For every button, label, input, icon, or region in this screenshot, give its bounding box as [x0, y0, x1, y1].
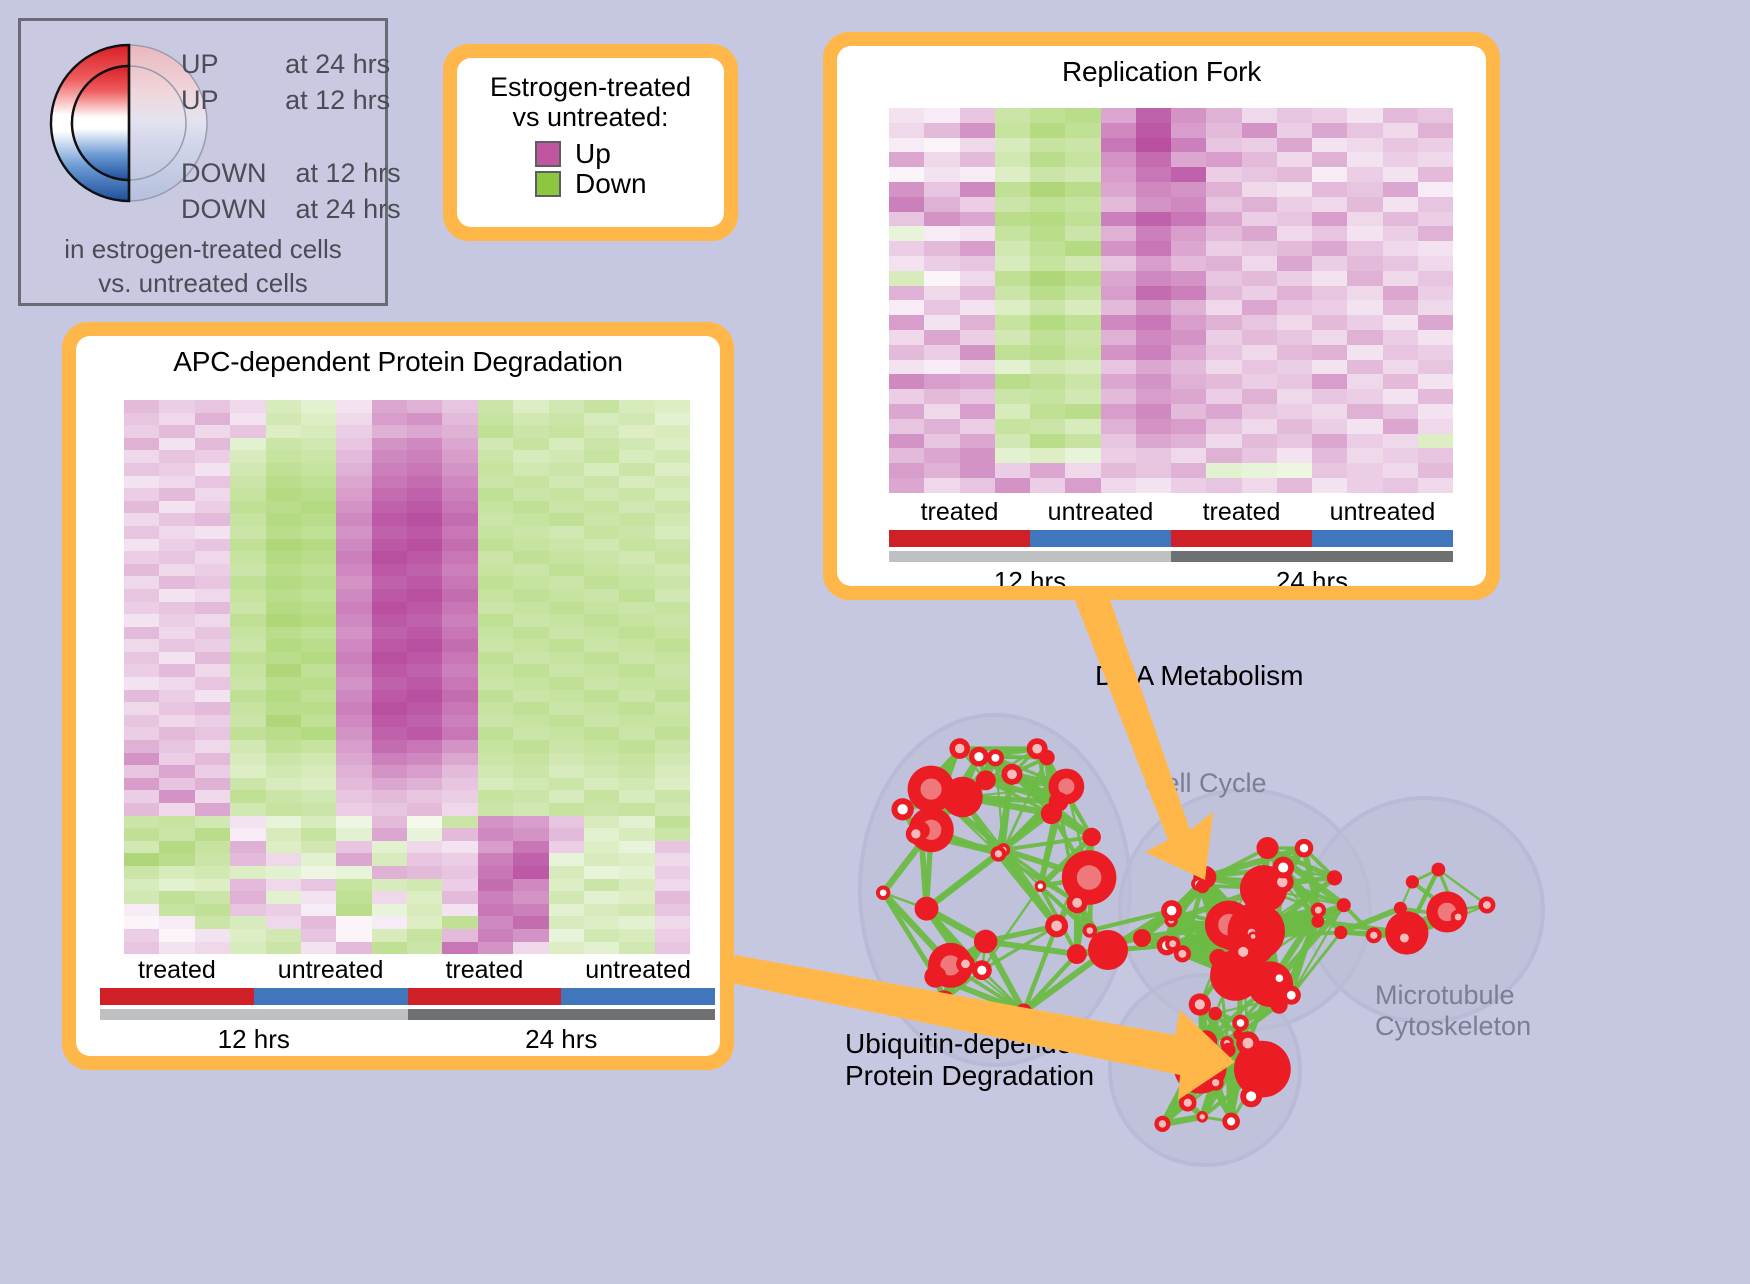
heatmap-cell [230, 891, 265, 904]
treated-bar-segment [100, 988, 254, 1005]
heatmap-cell [513, 526, 548, 539]
heatmap-cell [442, 602, 477, 615]
heatmap-cell [1065, 123, 1100, 138]
heatmap-cell [1277, 108, 1312, 123]
heatmap-cell [478, 501, 513, 514]
untreated-bar-segment [254, 988, 408, 1005]
heatmap-cell [301, 476, 336, 489]
heatmap-cell [230, 853, 265, 866]
heatmap-cell [960, 286, 995, 301]
heatmap-cell [549, 853, 584, 866]
heatmap-cell [513, 929, 548, 942]
heatmap-cell [336, 916, 371, 929]
heatmap-cell [124, 828, 159, 841]
heatmap-cell [266, 828, 301, 841]
heatmap-cell [266, 904, 301, 917]
heatmap-cell [924, 315, 959, 330]
heatmap-cell [549, 765, 584, 778]
heatmap-cell [889, 448, 924, 463]
heatmap-cell [195, 891, 230, 904]
heatmap-cell [549, 790, 584, 803]
heatmap-cell [159, 614, 194, 627]
heatmap-cell [266, 463, 301, 476]
heatmap-cell [442, 916, 477, 929]
network-node [1209, 1007, 1222, 1020]
heatmap-cell [1418, 152, 1453, 167]
heatmap-cell [159, 778, 194, 791]
heatmap-cell [124, 652, 159, 665]
heatmap-cell [584, 413, 619, 426]
heatmap-cell [549, 891, 584, 904]
heatmap-cell [1136, 197, 1171, 212]
heatmap-cell [478, 400, 513, 413]
heatmap-cell [478, 513, 513, 526]
heatmap-cell [619, 501, 654, 514]
heatmap-cell [1030, 463, 1065, 478]
heatmap-cell [1312, 123, 1347, 138]
heatmap-cell [584, 450, 619, 463]
heatmap-cell [1171, 434, 1206, 449]
heatmap-cell [513, 765, 548, 778]
heatmap-cell [301, 513, 336, 526]
heatmap-cell [442, 690, 477, 703]
cluster-label-cell-cycle: Cell Cycle [1145, 768, 1267, 799]
heatmap-cell [549, 879, 584, 892]
heatmap-cell [301, 702, 336, 715]
heatmap-cell [549, 576, 584, 589]
heatmap-cell [195, 816, 230, 829]
heatmap-cell [266, 639, 301, 652]
heatmap-cell [478, 816, 513, 829]
heatmap-cell [124, 450, 159, 463]
heatmap-cell [159, 690, 194, 703]
heatmap-cell [655, 551, 690, 564]
heatmap-cell [1347, 212, 1382, 227]
heatmap-cell [336, 576, 371, 589]
network-node [976, 770, 996, 790]
heatmap-cell [513, 879, 548, 892]
heatmap-cell [478, 564, 513, 577]
heatmap-cell [1347, 374, 1382, 389]
heatmap-cell [619, 589, 654, 602]
heatmap-cell [1418, 138, 1453, 153]
heatmap-cell [889, 330, 924, 345]
legend-item-up: Up [535, 140, 724, 168]
heatmap-cell [372, 551, 407, 564]
heatmap-cell [1277, 463, 1312, 478]
heatmap-cell [1136, 345, 1171, 360]
heatmap-cell [1347, 256, 1382, 271]
heatmap-cell [1171, 167, 1206, 182]
heatmap-cell [1312, 478, 1347, 493]
heatmap-cell [549, 702, 584, 715]
heatmap-cell [1383, 360, 1418, 375]
key-time: at 12 hrs [285, 85, 390, 115]
heatmap-cell [655, 400, 690, 413]
panel-title-apc: APC-dependent Protein Degradation [76, 336, 720, 378]
heatmap-cell [1347, 286, 1382, 301]
heatmap-cell [407, 450, 442, 463]
cluster-label-microtubule-cytoskeleton: Microtubule Cytoskeleton [1375, 980, 1531, 1042]
heatmap-cell [336, 614, 371, 627]
time-label: 24 hrs [1171, 566, 1453, 586]
heatmap-cell [513, 438, 548, 451]
heatmap-cell [301, 803, 336, 816]
key-time: at 12 hrs [296, 158, 401, 188]
heatmap-cell [1136, 448, 1171, 463]
heatmap-cell [266, 652, 301, 665]
heatmap-cell [1383, 138, 1418, 153]
heatmap-cell [619, 916, 654, 929]
heatmap-cell [889, 374, 924, 389]
heatmap-cell [655, 904, 690, 917]
heatmap-cell [336, 753, 371, 766]
heatmap-cell [230, 400, 265, 413]
heatmap-cell [301, 715, 336, 728]
heatmap-cell [372, 627, 407, 640]
network-node [1311, 915, 1324, 928]
heatmap-cell [195, 677, 230, 690]
heatmap-cell [230, 627, 265, 640]
heatmap-cell [1383, 463, 1418, 478]
heatmap-cell [1277, 182, 1312, 197]
heatmap-cell [655, 488, 690, 501]
heatmap-cell [1136, 286, 1171, 301]
cluster-label-dna-metabolism: DNA Metabolism [1095, 660, 1304, 692]
heatmap-cell [619, 778, 654, 791]
heatmap-cell [1312, 138, 1347, 153]
heatmap-cell [549, 866, 584, 879]
heatmap-cell [478, 715, 513, 728]
heatmap-cell [513, 904, 548, 917]
heatmap-cell [478, 551, 513, 564]
heatmap-cell [1136, 138, 1171, 153]
heatmap-cell [619, 904, 654, 917]
network-node [1327, 870, 1342, 885]
heatmap-cell [655, 438, 690, 451]
heatmap-cell [619, 564, 654, 577]
heatmap-cell [230, 450, 265, 463]
network-node [1406, 875, 1419, 888]
heatmap-cell [372, 740, 407, 753]
heatmap-cell [372, 438, 407, 451]
heatmap-cell [889, 256, 924, 271]
heatmap-cell [372, 463, 407, 476]
heatmap-cell [301, 639, 336, 652]
heatmap-cell [1383, 167, 1418, 182]
heatmap-cell [195, 664, 230, 677]
heatmap-cell [513, 413, 548, 426]
heatmap-cell [584, 425, 619, 438]
heatmap-cell [1312, 404, 1347, 419]
heatmap-cell [655, 942, 690, 955]
heatmap-cell [442, 841, 477, 854]
heatmap-cell [1312, 448, 1347, 463]
heatmap-cell [195, 539, 230, 552]
heatmap-cell [124, 841, 159, 854]
heatmap-cell [960, 182, 995, 197]
heatmap-cell [1206, 330, 1241, 345]
heatmap-cell [478, 614, 513, 627]
heatmap-cell [159, 942, 194, 955]
heatmap-cell [1383, 404, 1418, 419]
heatmap-cell [407, 664, 442, 677]
heatmap-cell [889, 478, 924, 493]
heatmap-cell [372, 841, 407, 854]
heatmap-cell [584, 803, 619, 816]
heatmap-cell [336, 778, 371, 791]
heatmap-cell [960, 315, 995, 330]
heatmap-cell [1418, 419, 1453, 434]
heatmap-cell [230, 639, 265, 652]
heatmap-cell [478, 413, 513, 426]
heatmap-cell [1206, 256, 1241, 271]
heatmap-cell [513, 652, 548, 665]
heatmap-cell [995, 374, 1030, 389]
heatmap-cell [336, 589, 371, 602]
heatmap-cell [960, 300, 995, 315]
heatmap-cell [478, 702, 513, 715]
heatmap-cell [619, 866, 654, 879]
figure-canvas: UP at 24 hrs UP at 12 hrs DOWN at 12 hrs… [0, 0, 1750, 1279]
heatmap-cell [960, 152, 995, 167]
heatmap-cell [584, 828, 619, 841]
untreated-bar-segment [1312, 530, 1453, 547]
heatmap-cell [1206, 374, 1241, 389]
heatmap-cell [442, 425, 477, 438]
heatmap-cell [1347, 360, 1382, 375]
heatmap-cell [407, 790, 442, 803]
heatmap-cell [407, 463, 442, 476]
heatmap-cell [584, 627, 619, 640]
heatmap-cell [549, 589, 584, 602]
heatmap-cell [549, 627, 584, 640]
heatmap-cell [266, 413, 301, 426]
heatmap-cell [1242, 286, 1277, 301]
heatmap-cell [584, 551, 619, 564]
heatmap-cell [230, 551, 265, 564]
heatmap-cell [372, 753, 407, 766]
heatmap-cell [549, 488, 584, 501]
heatmap-cell [1171, 152, 1206, 167]
heatmap-cell [124, 438, 159, 451]
heatmap-cell [442, 790, 477, 803]
heatmap-cell [195, 904, 230, 917]
heatmap-cell [301, 450, 336, 463]
heatmap-cell [584, 891, 619, 904]
key-term: DOWN [181, 194, 266, 224]
heatmap-cell [442, 677, 477, 690]
heatmap-cell [372, 677, 407, 690]
heatmap-cell [195, 476, 230, 489]
heatmap-cell [1206, 241, 1241, 256]
heatmap-cell [266, 564, 301, 577]
heatmap-cell [995, 286, 1030, 301]
heatmap-cell [478, 891, 513, 904]
heatmap-cell [336, 652, 371, 665]
heatmap-cell [549, 715, 584, 728]
heatmap-cell [407, 803, 442, 816]
heatmap-cell [1030, 182, 1065, 197]
heatmap-cell [1171, 404, 1206, 419]
heatmap-cell [1065, 463, 1100, 478]
heatmap-cell [159, 879, 194, 892]
heatmap-cell [1136, 226, 1171, 241]
heatmap-cell [195, 652, 230, 665]
heatmap-cell [960, 197, 995, 212]
heatmap-cell [124, 425, 159, 438]
treated-bar-segment [408, 988, 562, 1005]
heatmap-cell [124, 753, 159, 766]
heatmap-cell [1206, 463, 1241, 478]
heatmap-cell [124, 664, 159, 677]
heatmap-cell [1171, 241, 1206, 256]
heatmap-cell [407, 690, 442, 703]
heatmap-cell [584, 539, 619, 552]
heatmap-cell [619, 803, 654, 816]
key-term: DOWN [181, 158, 266, 188]
heatmap-cell [336, 765, 371, 778]
heatmap-cell [1065, 404, 1100, 419]
heatmap-cell [584, 488, 619, 501]
heatmap-cell [336, 476, 371, 489]
heatmap-cell [619, 539, 654, 552]
heatmap-cell [1347, 167, 1382, 182]
heatmap-cell [584, 916, 619, 929]
heatmap-cell [513, 702, 548, 715]
heatmap-cell [372, 476, 407, 489]
heatmap-cell [478, 576, 513, 589]
heatmap-cell [230, 916, 265, 929]
heatmap-cell [301, 841, 336, 854]
heatmap-cell [1242, 241, 1277, 256]
heatmap-cell [1065, 182, 1100, 197]
heatmap-cell [584, 740, 619, 753]
heatmap-cell [124, 740, 159, 753]
heatmap-cell [1277, 404, 1312, 419]
heatmap-cell [336, 904, 371, 917]
heatmap-cell [372, 526, 407, 539]
heatmap-cell [159, 551, 194, 564]
heatmap-cell [995, 138, 1030, 153]
heatmap-cell [1101, 419, 1136, 434]
heatmap-cell [889, 271, 924, 286]
heatmap-cell [960, 419, 995, 434]
heatmap-cell [1065, 448, 1100, 463]
heatmap-cell [549, 916, 584, 929]
heatmap-cell [619, 463, 654, 476]
heatmap-cell [230, 904, 265, 917]
heatmap-cell [549, 400, 584, 413]
heatmap-cell [655, 425, 690, 438]
heatmap-cell [372, 690, 407, 703]
heatmap-cell [1171, 389, 1206, 404]
heatmap-cell [301, 740, 336, 753]
heatmap-cell [336, 677, 371, 690]
heatmap-cell [1347, 448, 1382, 463]
heatmap-cell [1171, 182, 1206, 197]
heatmap-cell [301, 690, 336, 703]
heatmap-cell [301, 727, 336, 740]
heatmap-cell [924, 256, 959, 271]
heatmap-cell [230, 727, 265, 740]
heatmap-cell [619, 715, 654, 728]
heatmap-cell [442, 866, 477, 879]
cluster-label-ubiquitin-protein-degradation: Ubiquitin-dependent Protein Degradation [845, 1028, 1096, 1092]
heatmap-cell [124, 413, 159, 426]
heatmap-cell [1136, 271, 1171, 286]
heatmap-cell [336, 740, 371, 753]
network-node [1082, 828, 1101, 847]
heatmap-cell [1242, 404, 1277, 419]
heatmap-cell [372, 400, 407, 413]
heatmap-cell [442, 639, 477, 652]
heatmap-cell [124, 576, 159, 589]
heatmap-cell [1277, 212, 1312, 227]
network-graph [790, 620, 1750, 1279]
time-12hrs-bar-segment [889, 551, 1171, 562]
heatmap-cell [995, 419, 1030, 434]
heatmap-cell [124, 677, 159, 690]
heatmap-cell [336, 727, 371, 740]
heatmap-cell [1347, 345, 1382, 360]
heatmap-cell [1206, 419, 1241, 434]
heatmap-cell [1242, 226, 1277, 241]
heatmap-cell [1418, 434, 1453, 449]
network-node [1067, 944, 1087, 964]
heatmap-cell [1206, 315, 1241, 330]
heatmap-cell [1101, 463, 1136, 478]
heatmap-cell [1418, 197, 1453, 212]
heatmap-cell [619, 614, 654, 627]
heatmap-cell [995, 212, 1030, 227]
heatmap-cell [301, 778, 336, 791]
time-label: 12 hrs [100, 1024, 408, 1055]
heatmap-cell [372, 904, 407, 917]
heatmap-cell [195, 690, 230, 703]
heatmap-cell [1312, 300, 1347, 315]
heatmap-cell [442, 400, 477, 413]
heatmap-cell [159, 904, 194, 917]
heatmap-cell [655, 828, 690, 841]
heatmap-cell [372, 664, 407, 677]
heatmap-cell [301, 916, 336, 929]
heatmap-cell [336, 551, 371, 564]
heatmap-cell [1136, 167, 1171, 182]
heatmap-cell [266, 576, 301, 589]
key-term: UP [181, 49, 218, 79]
heatmap-cell [407, 564, 442, 577]
heatmap-cell [301, 866, 336, 879]
key-term: UP [181, 85, 218, 115]
heatmap-cell [407, 413, 442, 426]
heatmap-cell [442, 702, 477, 715]
heatmap-cell [301, 879, 336, 892]
heatmap-cell [513, 816, 548, 829]
network-node [1334, 926, 1347, 939]
heatmap-cell [195, 627, 230, 640]
heatmap-cell [1101, 374, 1136, 389]
heatmap-cell [1418, 374, 1453, 389]
heatmap-cell [1418, 404, 1453, 419]
heatmap-cell [478, 841, 513, 854]
heatmap-cell [1030, 360, 1065, 375]
heatmap-cell [619, 652, 654, 665]
heatmap-cell [1242, 182, 1277, 197]
heatmap-cell [549, 727, 584, 740]
heatmap-cell [1206, 152, 1241, 167]
heatmap-cell [655, 639, 690, 652]
